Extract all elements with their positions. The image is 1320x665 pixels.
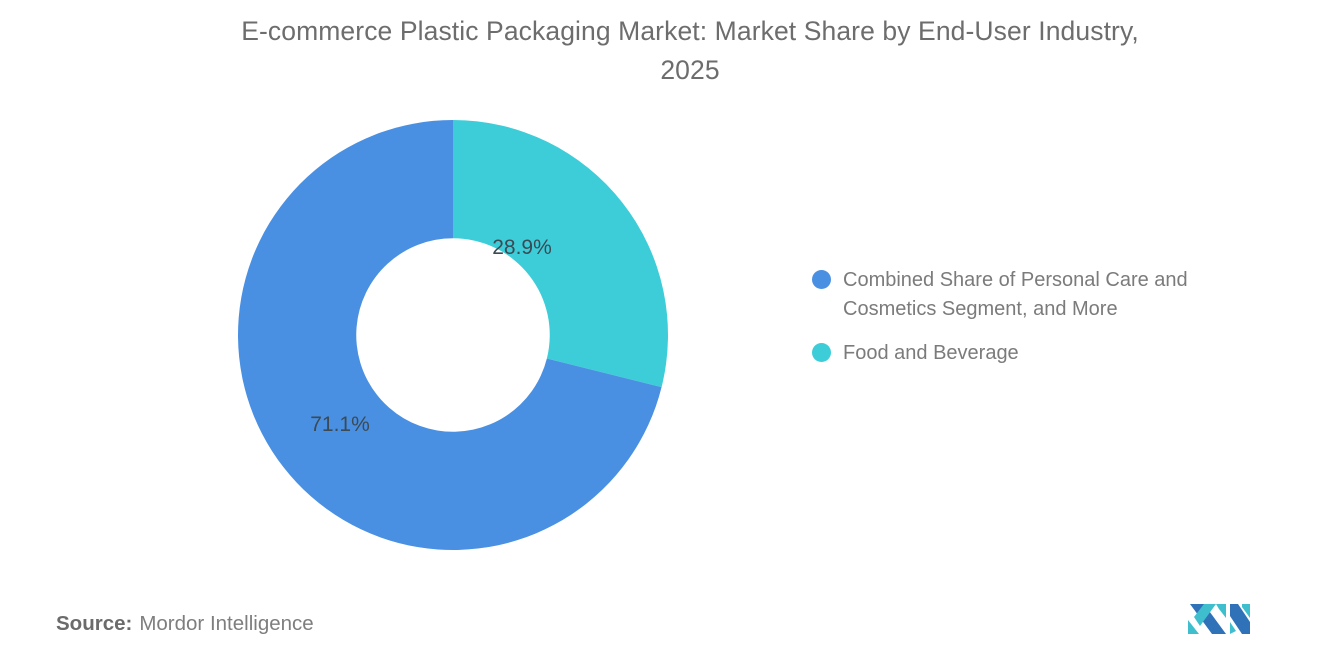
mordor-intelligence-logo-icon bbox=[1186, 598, 1252, 638]
donut-chart: 28.9% 71.1% bbox=[236, 118, 670, 552]
chart-title: E-commerce Plastic Packaging Market: Mar… bbox=[160, 12, 1220, 90]
legend-label-food-and-beverage: Food and Beverage bbox=[843, 339, 1019, 368]
chart-legend: Combined Share of Personal Care and Cosm… bbox=[812, 266, 1282, 384]
logo-svg bbox=[1186, 598, 1252, 638]
donut-label-food-and-beverage: 28.9% bbox=[492, 236, 552, 259]
donut-slice-food-and-beverage[interactable] bbox=[453, 120, 668, 387]
donut-label-combined-share: 71.1% bbox=[310, 413, 370, 436]
donut-chart-svg: 28.9% 71.1% bbox=[236, 118, 670, 552]
source-note: Source:Mordor Intelligence bbox=[56, 612, 314, 636]
source-label: Source: bbox=[56, 612, 132, 635]
source-value: Mordor Intelligence bbox=[139, 612, 313, 635]
legend-label-combined-share: Combined Share of Personal Care and Cosm… bbox=[843, 266, 1235, 323]
legend-item-combined-share[interactable]: Combined Share of Personal Care and Cosm… bbox=[812, 266, 1282, 323]
chart-figure: E-commerce Plastic Packaging Market: Mar… bbox=[0, 0, 1320, 665]
legend-swatch-food-and-beverage bbox=[812, 343, 831, 362]
legend-item-food-and-beverage[interactable]: Food and Beverage bbox=[812, 339, 1282, 368]
legend-swatch-combined-share bbox=[812, 270, 831, 289]
